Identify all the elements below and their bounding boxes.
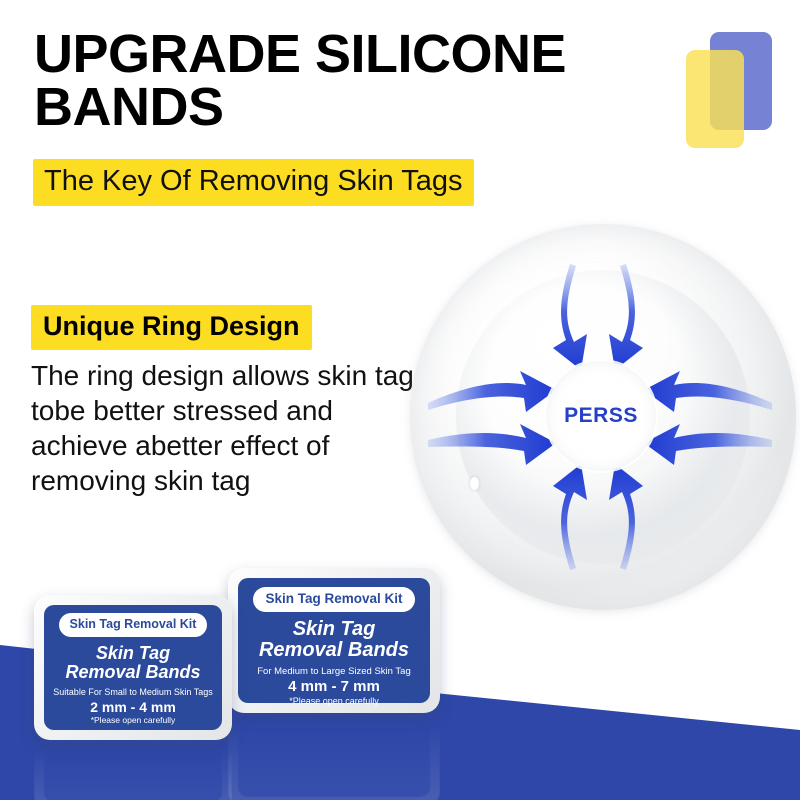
arrow-top-left: [553, 264, 587, 370]
package-small-title: Skin Tag Removal Bands: [65, 644, 200, 682]
arrow-bottom-left: [553, 464, 587, 570]
package-large: Skin Tag Removal Kit Skin Tag Removal Ba…: [228, 568, 440, 713]
package-large-size: 4 mm - 7 mm: [288, 679, 380, 696]
package-large-title: Skin Tag Removal Bands: [259, 619, 409, 661]
package-small-reflection: [34, 742, 232, 800]
package-small-note: Suitable For Small to Medium Skin Tags: [53, 688, 212, 698]
arrow-left-lower: [428, 424, 556, 465]
package-large-reflection: [228, 715, 440, 800]
package-large-badge: Skin Tag Removal Kit: [253, 587, 414, 612]
decorative-yellow-rectangle: [686, 50, 744, 148]
subtitle-highlight: The Key Of Removing Skin Tags: [33, 159, 474, 206]
package-small-size: 2 mm - 4 mm: [90, 700, 176, 715]
silicone-center-hole: PERSS: [546, 361, 656, 471]
package-small-face: Skin Tag Removal Kit Skin Tag Removal Ba…: [44, 605, 222, 730]
product-poster: UPGRADE SILICONE BANDS The Key Of Removi…: [0, 0, 800, 800]
package-large-warning: *Please open carefully: [289, 697, 379, 707]
package-large-face: Skin Tag Removal Kit Skin Tag Removal Ba…: [238, 578, 430, 703]
arrow-left-upper: [428, 371, 556, 412]
page-title: UPGRADE SILICONE BANDS: [34, 28, 674, 134]
package-large-note: For Medium to Large Sized Skin Tag: [257, 667, 410, 677]
arrow-bottom-right: [609, 464, 643, 570]
package-small-badge: Skin Tag Removal Kit: [59, 613, 208, 637]
arrow-top-right: [609, 264, 643, 370]
package-small: Skin Tag Removal Kit Skin Tag Removal Ba…: [34, 595, 232, 740]
feature-description: The ring design allows skin tag tobe bet…: [31, 358, 421, 498]
arrow-right-upper: [644, 371, 772, 412]
package-small-warning: *Please open carefully: [91, 716, 176, 725]
arrow-right-lower: [644, 424, 772, 465]
silicone-band-photo: PERSS: [398, 218, 800, 616]
feature-label-highlight: Unique Ring Design: [31, 305, 312, 350]
brand-logo: PERSS: [564, 404, 638, 428]
